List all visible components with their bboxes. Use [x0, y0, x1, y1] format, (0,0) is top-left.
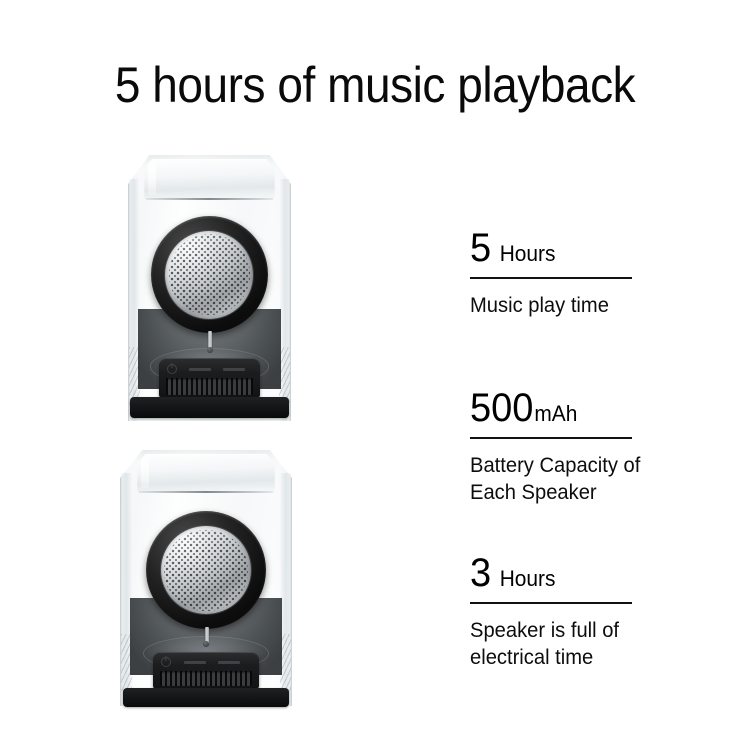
speaker-grille [161, 526, 251, 614]
page-title: 5 hours of music playback [30, 56, 720, 114]
speaker-top-cap [144, 159, 274, 199]
power-icon [161, 657, 171, 667]
spec-divider [470, 602, 632, 604]
speaker-upper [128, 155, 291, 421]
control-bar-icon [223, 368, 245, 371]
spec-description: Speaker is full of electrical time [470, 617, 662, 671]
cap-highlight [141, 458, 150, 489]
control-bar-icon [184, 661, 206, 664]
spec-block-charge-time: 3 Hours Speaker is full of electrical ti… [470, 553, 670, 671]
spec-unit: mAh [534, 403, 577, 425]
cap-seam [139, 491, 273, 493]
product-feature-image: 5 hours of music playback [0, 0, 750, 750]
spec-divider [470, 437, 632, 439]
speaker-driver [151, 216, 268, 333]
grille-sheen [161, 526, 251, 614]
power-icon [167, 364, 177, 374]
speaker-base-module [159, 358, 260, 398]
spec-heading: 3 Hours [470, 553, 660, 593]
spec-description: Music play time [470, 292, 662, 319]
spec-description: Battery Capacity of Each Speaker [470, 452, 662, 506]
spec-value: 5 [470, 228, 491, 268]
base-vents [166, 378, 253, 395]
speaker-base-module [153, 652, 260, 689]
spec-heading: 5 Hours [470, 228, 660, 268]
speaker-plinth [130, 397, 288, 418]
base-control-icons [167, 365, 252, 374]
spec-block-music-play-time: 5 Hours Music play time [470, 228, 670, 319]
cap-seam [146, 198, 273, 200]
spec-block-battery-capacity: 500 mAh Battery Capacity of Each Speaker [470, 388, 670, 506]
base-vents [160, 671, 252, 687]
control-bar-icon [218, 661, 240, 664]
speaker-lower [120, 450, 292, 706]
speaker-plinth [123, 688, 290, 707]
cap-highlight [148, 163, 156, 195]
spec-heading: 500 mAh [470, 388, 660, 428]
base-control-icons [161, 658, 251, 666]
spec-unit: Hours [500, 568, 556, 590]
spec-value: 500 [470, 388, 533, 428]
speaker-top-cap [137, 454, 275, 492]
spec-divider [470, 277, 632, 279]
spec-unit: Hours [500, 243, 556, 265]
speaker-driver [146, 511, 266, 629]
spec-value: 3 [470, 553, 491, 593]
speaker-grille [165, 231, 253, 319]
speaker-pin-tip [203, 641, 209, 647]
speaker-pin-tip [207, 347, 213, 353]
grille-sheen [165, 231, 253, 319]
control-bar-icon [189, 368, 211, 371]
